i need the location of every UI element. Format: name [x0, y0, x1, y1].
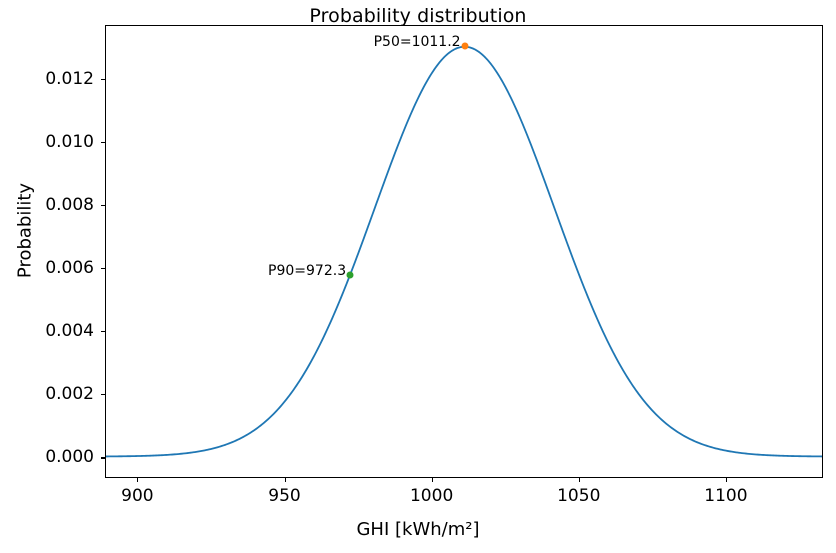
- annotation-label-p90: P90=972.3: [268, 263, 346, 279]
- x-tick-mark: [579, 478, 580, 482]
- x-tick-mark: [137, 478, 138, 482]
- figure-canvas: Probability distribution 0.0000.0020.004…: [0, 0, 836, 553]
- y-tick-mark: [101, 79, 105, 80]
- y-tick-label: 0.008: [45, 195, 94, 215]
- y-tick-mark: [101, 331, 105, 332]
- x-tick-label: 1000: [410, 486, 453, 506]
- curve-path: [106, 47, 822, 457]
- y-tick-mark: [101, 457, 105, 458]
- y-tick-label: 0.002: [45, 384, 94, 404]
- marker-p90: [347, 272, 354, 279]
- y-tick-label: 0.006: [45, 258, 94, 278]
- marker-p50: [461, 42, 468, 49]
- y-tick-mark: [101, 394, 105, 395]
- x-tick-label: 950: [268, 486, 300, 506]
- x-tick-label: 1100: [704, 486, 747, 506]
- x-tick-labels: 900950100010501100: [0, 486, 836, 512]
- y-axis-label: Probability: [15, 111, 36, 351]
- y-tick-mark: [101, 142, 105, 143]
- y-tick-label: 0.012: [45, 69, 94, 89]
- y-tick-mark: [101, 268, 105, 269]
- x-axis-label: GHI [kWh/m²]: [0, 519, 836, 540]
- x-tick-label: 1050: [557, 486, 600, 506]
- x-tick-mark: [432, 478, 433, 482]
- x-tick-mark: [285, 478, 286, 482]
- y-tick-label: 0.010: [45, 132, 94, 152]
- y-tick-label: 0.004: [45, 321, 94, 341]
- chart-title: Probability distribution: [0, 5, 836, 27]
- annotation-label-p50: P50=1011.2: [374, 34, 461, 50]
- x-tick-mark: [726, 478, 727, 482]
- plot-area: [105, 25, 823, 478]
- y-tick-label: 0.000: [45, 447, 94, 467]
- x-tick-label: 900: [121, 486, 153, 506]
- y-tick-mark: [101, 205, 105, 206]
- probability-curve: [106, 26, 822, 477]
